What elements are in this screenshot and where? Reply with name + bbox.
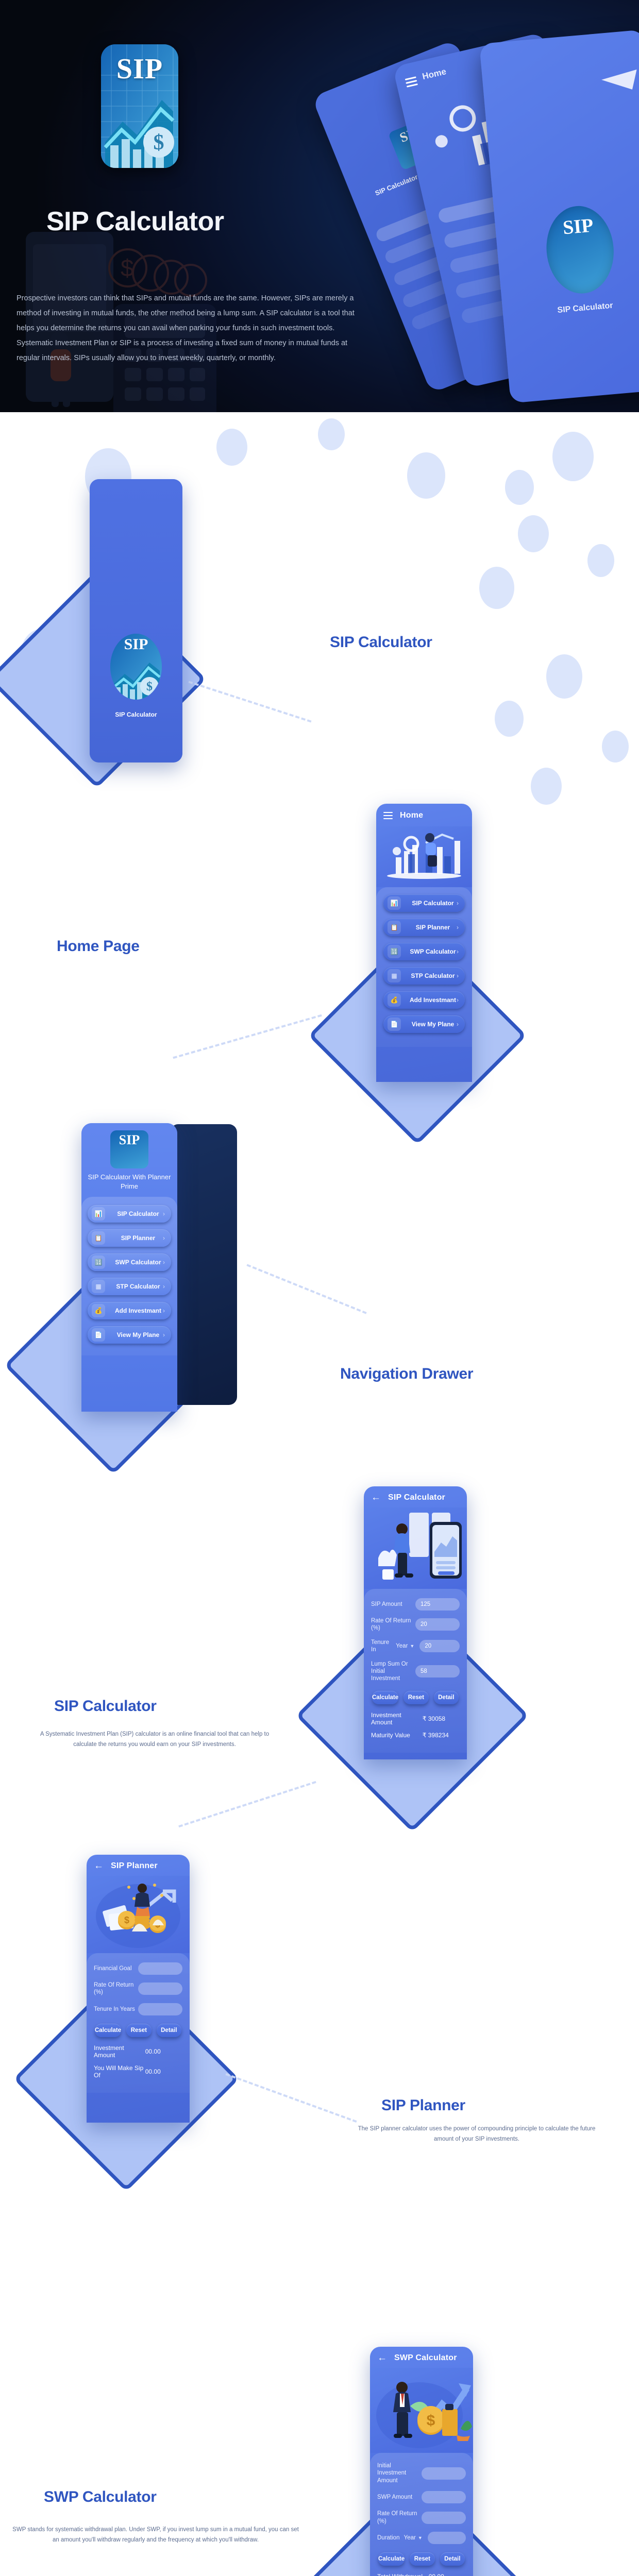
planner-sip-of-row: You Will Make Sip Of 00.00	[94, 2064, 182, 2079]
calculate-button[interactable]: Calculate	[378, 2552, 405, 2566]
drawer-section-title: Navigation Drawer	[340, 1365, 473, 1383]
swp-amount-field-row: SWP Amount	[377, 2491, 466, 2503]
chevron-right-icon: ›	[457, 1021, 459, 1028]
total-withdrawal-label: Total Withdrawal	[377, 2573, 429, 2576]
chevron-right-icon: ›	[163, 1210, 165, 1217]
maturity-value-row: Maturity Value ₹ 398234	[371, 1732, 460, 1739]
calculator-icon: 🔢	[92, 1256, 105, 1269]
showcase-body: $ SIP SIP Calculator SIP Calculator Home	[0, 412, 639, 2576]
swp-amount-input[interactable]	[422, 2491, 466, 2503]
sip-calculator-device: ← SIP Calculator	[364, 1486, 467, 1759]
splash-logo-text: SIP	[110, 636, 162, 653]
swp-calc-section-desc: SWP stands for systematic withdrawal pla…	[11, 2524, 300, 2545]
svg-text:$: $	[154, 131, 164, 155]
planner-rate-field-row: Rate Of Return (%)	[94, 1981, 182, 1996]
swp-duration-input[interactable]	[428, 2532, 466, 2544]
back-arrow-icon[interactable]: ←	[377, 2353, 387, 2363]
home-menu-item[interactable]: 🔢 SWP Calculator ›	[383, 943, 465, 960]
add-investment-icon: 💰	[388, 993, 401, 1007]
lumpsum-field-row: Lump Sum Or Initial Investment 58	[371, 1660, 460, 1683]
sip-planner-section-title: SIP Planner	[381, 2097, 465, 2114]
report-icon: 📊	[92, 1207, 105, 1221]
planner-rate-input[interactable]	[138, 1982, 182, 1995]
rate-of-return-label: Rate Of Return (%)	[371, 1617, 415, 1632]
drawer-item-label: SIP Planner	[105, 1234, 171, 1242]
reset-button[interactable]: Reset	[126, 2024, 151, 2037]
swp-duration-field-row: Duration Year ▼	[377, 2532, 466, 2544]
chevron-right-icon: ›	[457, 924, 459, 931]
calculate-button[interactable]: Calculate	[95, 2024, 121, 2037]
sip-amount-input[interactable]: 125	[415, 1598, 460, 1611]
back-arrow-icon[interactable]: ←	[94, 1861, 104, 1871]
home-menu-label: Add Investmant	[401, 996, 465, 1004]
planner-investment-amount-label: Investment Amount	[94, 2044, 145, 2059]
swp-calc-illustration: $	[370, 2368, 473, 2453]
sip-amount-field-row: SIP Amount 125	[371, 1598, 460, 1611]
sip-calc-form: SIP Amount 125 Rate Of Return (%) 20 Ten…	[364, 1589, 467, 1753]
svg-text:$: $	[146, 680, 153, 693]
drawer-item[interactable]: 📋 SIP Planner ›	[88, 1229, 171, 1247]
tenure-unit-select[interactable]: Year	[396, 1643, 408, 1649]
sip-calc-section-title: SIP Calculator	[54, 1698, 157, 1715]
investment-amount-value: ₹ 30058	[423, 1715, 460, 1722]
swp-calc-section-title: SWP Calculator	[44, 2488, 157, 2506]
fan-splash-logo: SIP	[543, 203, 617, 296]
financial-goal-label: Financial Goal	[94, 1965, 138, 1972]
chevron-right-icon: ›	[457, 900, 459, 907]
splash-logo: $ SIP	[110, 634, 162, 700]
swp-calc-form: Initial Investment Amount SWP Amount Rat…	[370, 2453, 473, 2576]
total-withdrawal-value: 00.00	[429, 2573, 466, 2576]
drawer-item-label: SWP Calculator	[105, 1259, 171, 1266]
home-menu-item[interactable]: 📄 View My Plane ›	[383, 1015, 465, 1033]
home-menu-item[interactable]: ▦ STP Calculator ›	[383, 967, 465, 985]
sip-calc-buttons: Calculate Reset Detail	[372, 1691, 459, 1704]
home-menu-item[interactable]: 💰 Add Investmant ›	[383, 991, 465, 1009]
home-section-title: Home Page	[57, 938, 140, 955]
keypad-icon: ▦	[388, 969, 401, 982]
financial-goal-input[interactable]	[138, 1962, 182, 1975]
swp-calc-title: SWP Calculator	[394, 2353, 457, 2363]
home-screen-device: Home	[376, 804, 472, 1082]
chevron-right-icon: ›	[457, 972, 459, 979]
hamburger-icon	[405, 74, 418, 89]
drawer-item[interactable]: 📊 SIP Calculator ›	[88, 1205, 171, 1223]
planner-icon: 📋	[92, 1231, 105, 1245]
swp-rate-label: Rate Of Return (%)	[377, 2510, 422, 2525]
hero-title: SIP Calculator	[46, 206, 224, 237]
detail-button[interactable]: Detail	[440, 2552, 465, 2566]
splash-screen-device: $ SIP SIP Calculator	[90, 479, 182, 762]
rate-of-return-input[interactable]: 20	[415, 1618, 460, 1631]
calculator-icon: 🔢	[388, 945, 401, 958]
drawer-item[interactable]: ▦ STP Calculator ›	[88, 1278, 171, 1295]
detail-button[interactable]: Detail	[434, 1691, 459, 1704]
drawer-item-label: STP Calculator	[105, 1283, 171, 1290]
lumpsum-label: Lump Sum Or Initial Investment	[371, 1660, 415, 1683]
planner-icon: 📋	[388, 921, 401, 934]
home-menu-sheet: 📊 SIP Calculator › 📋 SIP Planner › 🔢 SWP…	[376, 887, 472, 1047]
swp-duration-label: Duration	[377, 2534, 404, 2541]
svg-text:$: $	[121, 255, 134, 281]
initial-investment-input[interactable]	[422, 2467, 466, 2480]
drawer-background-phone	[170, 1124, 237, 1405]
home-illustration	[376, 826, 472, 887]
sip-planner-title: SIP Planner	[111, 1861, 158, 1871]
drawer-item-label: Add Investmant	[105, 1307, 171, 1314]
maturity-value-value: ₹ 398234	[423, 1732, 460, 1739]
swp-duration-unit-select[interactable]: Year	[404, 2535, 416, 2541]
chevron-right-icon: ›	[457, 948, 459, 955]
swp-amount-label: SWP Amount	[377, 2494, 422, 2501]
chevron-right-icon: ›	[163, 1259, 165, 1266]
swp-rate-input[interactable]	[422, 2512, 466, 2524]
fan-splash-label: SIP Calculator	[502, 296, 639, 320]
calculate-button[interactable]: Calculate	[372, 1691, 398, 1704]
tenure-field-row: Tenure In Year ▼ 20	[371, 1639, 460, 1654]
swp-calculator-device: ← SWP Calculator $	[370, 2347, 473, 2576]
drawer-item-label: View My Plane	[105, 1331, 171, 1338]
reset-button[interactable]: Reset	[403, 1691, 428, 1704]
swp-rate-field-row: Rate Of Return (%)	[377, 2510, 466, 2525]
planner-tenure-field-row: Tenure In Years	[94, 2003, 182, 2015]
planner-investment-amount-value: 00.00	[145, 2048, 182, 2055]
total-withdrawal-row: Total Withdrawal 00.00	[377, 2573, 466, 2576]
drawer-header: SIP SIP Calculator With Planner Prime	[81, 1123, 177, 1197]
drawer-logo-text: SIP	[119, 1132, 140, 1148]
maturity-value-label: Maturity Value	[371, 1732, 423, 1739]
svg-text:$: $	[427, 2412, 435, 2429]
chevron-right-icon: ›	[163, 1234, 165, 1242]
tenure-label: Tenure In	[371, 1639, 396, 1654]
chevron-right-icon: ›	[163, 1331, 165, 1338]
sip-planner-buttons: Calculate Reset Detail	[95, 2024, 181, 2037]
tenure-input[interactable]: 20	[419, 1640, 460, 1652]
investment-amount-row: Investment Amount ₹ 30058	[371, 1711, 460, 1726]
planner-tenure-label: Tenure In Years	[94, 2006, 138, 2013]
sip-calc-illustration	[364, 1507, 467, 1589]
chevron-right-icon: ›	[163, 1283, 165, 1290]
splash-app-name: SIP Calculator	[90, 711, 182, 718]
sip-planner-section-desc: The SIP planner calculator uses the powe…	[356, 2124, 598, 2144]
home-menu-item[interactable]: 📋 SIP Planner ›	[383, 919, 465, 936]
chevron-down-icon[interactable]: ▼	[418, 2535, 423, 2540]
splash-section-title: SIP Calculator	[330, 634, 432, 651]
drawer-item-label: SIP Calculator	[105, 1210, 171, 1217]
home-menu-item[interactable]: 📊 SIP Calculator ›	[383, 894, 465, 912]
home-menu-label: View My Plane	[401, 1021, 465, 1028]
sip-planner-form: Financial Goal Rate Of Return (%) Tenure…	[87, 1953, 190, 2093]
app-logo: $ SIP	[101, 44, 178, 168]
home-menu-label: SIP Calculator	[401, 900, 465, 907]
list-icon: 📄	[388, 1018, 401, 1031]
detail-button[interactable]: Detail	[157, 2024, 181, 2037]
financial-goal-field-row: Financial Goal	[94, 1962, 182, 1975]
planner-sip-of-label: You Will Make Sip Of	[94, 2064, 145, 2079]
chevron-right-icon: ›	[163, 1307, 165, 1314]
drawer-item[interactable]: 📄 View My Plane ›	[88, 1326, 171, 1344]
back-arrow-icon[interactable]: ←	[371, 1493, 381, 1502]
sip-planner-appbar: ← SIP Planner	[87, 1855, 190, 1876]
sip-calc-section-desc: A Systematic Investment Plan (SIP) calcu…	[31, 1729, 278, 1750]
swp-calc-appbar: ← SWP Calculator	[370, 2347, 473, 2368]
drawer-app-title: SIP Calculator With Planner Prime	[87, 1173, 172, 1191]
sip-planner-device: ← SIP Planner $ $	[87, 1855, 190, 2123]
home-menu-label: STP Calculator	[401, 972, 465, 979]
app-logo-text: SIP	[101, 53, 178, 86]
lumpsum-input[interactable]: 58	[415, 1665, 460, 1677]
home-menu-label: SWP Calculator	[401, 948, 465, 955]
drawer-screen-device: SIP SIP Calculator With Planner Prime 📊 …	[81, 1123, 177, 1412]
swp-calc-buttons: Calculate Reset Detail	[378, 2552, 465, 2566]
reset-button[interactable]: Reset	[410, 2552, 434, 2566]
chevron-down-icon[interactable]: ▼	[410, 1643, 414, 1649]
home-appbar: Home	[376, 804, 472, 826]
keypad-icon: ▦	[92, 1280, 105, 1293]
rate-of-return-field-row: Rate Of Return (%) 20	[371, 1617, 460, 1632]
drawer-logo: SIP	[110, 1130, 148, 1168]
initial-investment-field-row: Initial Investment Amount	[377, 2462, 466, 2484]
sip-calc-title: SIP Calculator	[388, 1493, 445, 1502]
planner-rate-label: Rate Of Return (%)	[94, 1981, 138, 1996]
add-investment-icon: 💰	[92, 1304, 105, 1317]
planner-investment-amount-row: Investment Amount 00.00	[94, 2044, 182, 2059]
hamburger-icon[interactable]	[383, 810, 393, 821]
list-icon: 📄	[92, 1328, 105, 1342]
investment-amount-label: Investment Amount	[371, 1711, 423, 1726]
hero-phone-fan: SIP SIP Calculator With Planner Prime Ho…	[289, 26, 639, 412]
planner-tenure-input[interactable]	[138, 2003, 182, 2015]
home-appbar-title: Home	[400, 811, 423, 820]
svg-text:$: $	[124, 1915, 129, 1925]
sip-calc-appbar: ← SIP Calculator	[364, 1486, 467, 1507]
initial-investment-label: Initial Investment Amount	[377, 2462, 422, 2484]
drawer-item[interactable]: 💰 Add Investmant ›	[88, 1302, 171, 1319]
sip-amount-label: SIP Amount	[371, 1601, 415, 1608]
sip-planner-illustration: $ $	[87, 1876, 190, 1953]
drawer-menu-list: 📊 SIP Calculator › 📋 SIP Planner › 🔢 SWP…	[81, 1197, 177, 1355]
report-icon: 📊	[388, 896, 401, 910]
home-menu-label: SIP Planner	[401, 924, 465, 931]
planner-sip-of-value: 00.00	[145, 2068, 182, 2075]
drawer-item[interactable]: 🔢 SWP Calculator ›	[88, 1253, 171, 1271]
hero-banner: $ $	[0, 0, 639, 412]
chevron-right-icon: ›	[457, 996, 459, 1004]
